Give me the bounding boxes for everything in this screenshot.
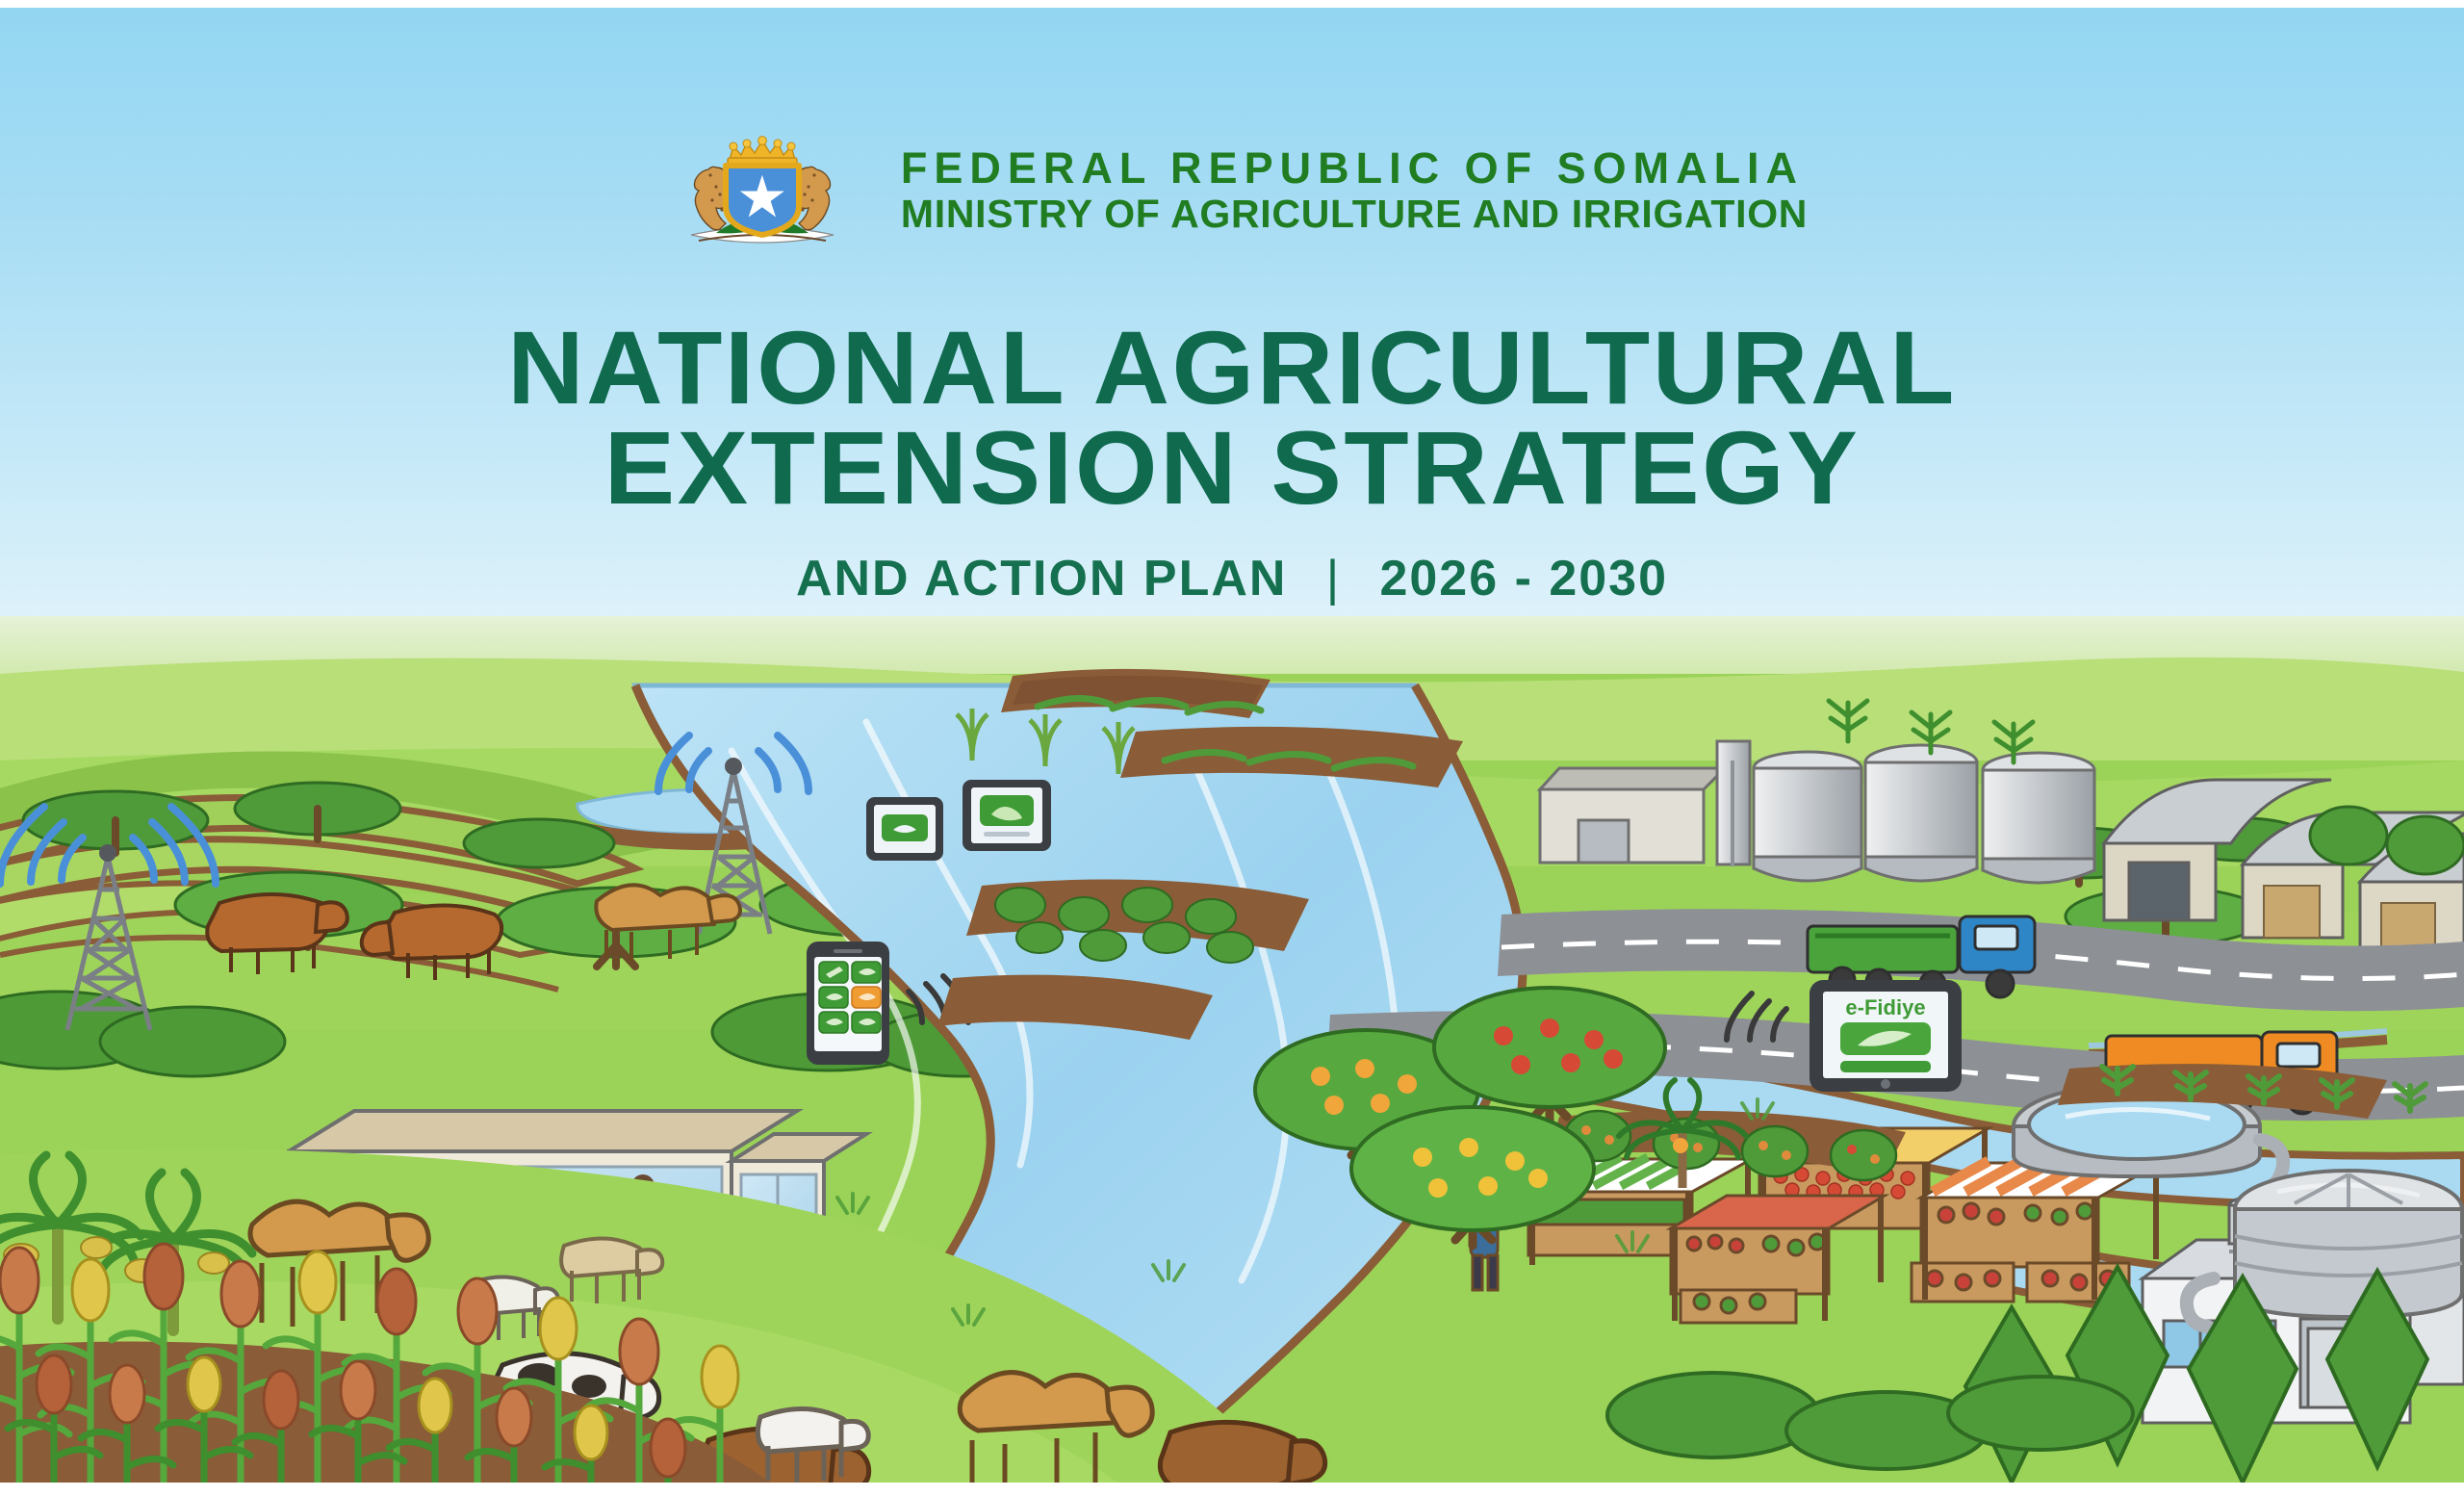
cover-illustration: e-Fidiye (0, 616, 2464, 1483)
top-margin (0, 0, 2464, 8)
federal-republic-line: FEDERAL REPUBLIC OF SOMALIA (901, 145, 1808, 192)
document-title-block: NATIONAL AGRICULTURAL EXTENSION STRATEGY… (0, 318, 2464, 607)
tablet-video (866, 797, 943, 861)
title-line-2: EXTENSION STRATEGY (0, 418, 2464, 518)
document-cover-page: FEDERAL REPUBLIC OF SOMALIA MINISTRY OF … (0, 0, 2464, 1496)
government-header: FEDERAL REPUBLIC OF SOMALIA MINISTRY OF … (0, 123, 2464, 258)
somalia-coat-of-arms-emblem (656, 127, 868, 254)
subtitle-separator: | (1287, 550, 1379, 607)
ministry-line: MINISTRY OF AGRICULTURE AND IRRIGATION (901, 193, 1808, 235)
subtitle-years: 2026 - 2030 (1379, 550, 1668, 607)
bottom-margin (0, 1483, 2464, 1496)
tablet-advisory (962, 780, 1051, 851)
subtitle-text: AND ACTION PLAN (796, 550, 1288, 607)
government-title-text: FEDERAL REPUBLIC OF SOMALIA MINISTRY OF … (901, 145, 1808, 235)
crown (728, 137, 797, 166)
title-line-1: NATIONAL AGRICULTURAL (0, 318, 2464, 418)
document-subtitle: AND ACTION PLAN | 2026 - 2030 (0, 550, 2464, 607)
e-fidiye-label: e-Fidiye (1845, 995, 1925, 1019)
